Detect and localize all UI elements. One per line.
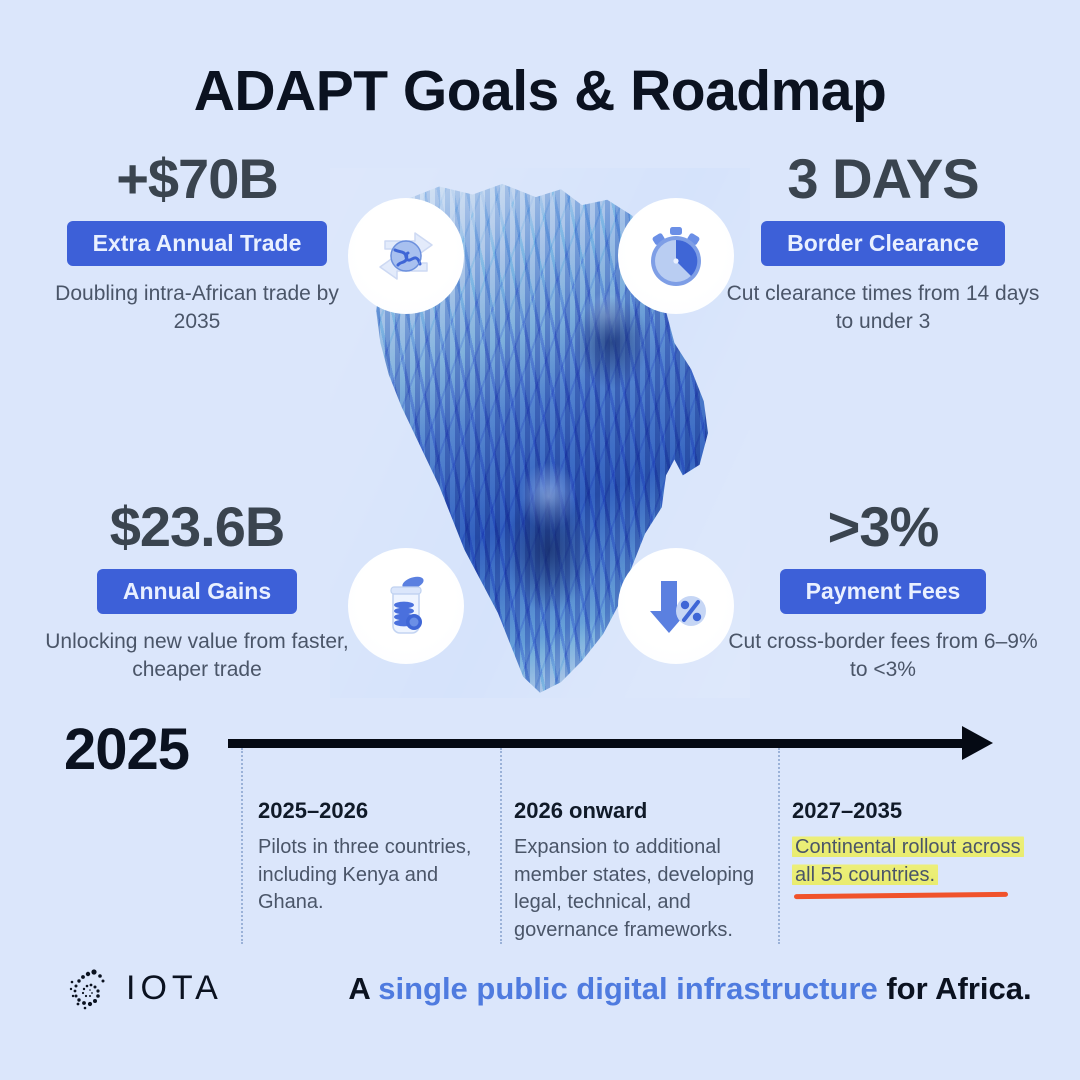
- stat-description: Doubling intra-African trade by 2035: [32, 280, 362, 335]
- page-title: ADAPT Goals & Roadmap: [0, 58, 1080, 124]
- stat-pill-label: Payment Fees: [780, 569, 987, 614]
- stat-pill-label: Annual Gains: [97, 569, 297, 614]
- iota-logo-icon: [64, 965, 110, 1011]
- stat-annual-gains: $23.6B Annual Gains Unlocking new value …: [32, 498, 362, 684]
- milestone-period: 2025–2026: [258, 798, 506, 824]
- timeline-milestone-3: 2027–2035 Continental rollout across all…: [792, 798, 1028, 889]
- milestone-text: Expansion to additional member states, d…: [514, 834, 762, 944]
- stat-payment-fees: >3% Payment Fees Cut cross-border fees f…: [718, 498, 1048, 684]
- stat-description: Cut clearance times from 14 days to unde…: [718, 280, 1048, 335]
- footer: IOTA A single public digital infrastruct…: [0, 963, 1080, 1033]
- timeline-divider: [241, 748, 243, 944]
- timeline-start-year: 2025: [64, 716, 189, 783]
- timeline-milestone-1: 2025–2026 Pilots in three countries, inc…: [258, 798, 506, 917]
- stat-value: +$70B: [32, 150, 362, 207]
- tagline-suffix: for Africa.: [878, 971, 1032, 1006]
- globe-exchange-icon: [348, 198, 464, 314]
- stat-pill-label: Border Clearance: [761, 221, 1005, 266]
- infographic-canvas: ADAPT Goals & Roadmap: [0, 0, 1080, 1080]
- red-underline-annotation: [794, 892, 1008, 899]
- stat-description: Cut cross-border fees from 6–9% to <3%: [718, 628, 1048, 683]
- stat-value: >3%: [718, 498, 1048, 555]
- tagline-prefix: A: [348, 971, 378, 1006]
- footer-tagline: A single public digital infrastructure f…: [340, 971, 1040, 1007]
- milestone-period: 2027–2035: [792, 798, 1028, 824]
- milestone-period: 2026 onward: [514, 798, 762, 824]
- timeline-arrow-icon: [962, 726, 993, 760]
- savings-jar-icon: [348, 548, 464, 664]
- highlight-marker: Continental rollout across all 55 countr…: [792, 835, 1024, 887]
- stat-description: Unlocking new value from faster, cheaper…: [32, 628, 362, 683]
- stat-value: $23.6B: [32, 498, 362, 555]
- brand-wordmark: IOTA: [126, 969, 223, 1008]
- stopwatch-icon: [618, 198, 734, 314]
- milestone-text-highlighted: Continental rollout across all 55 countr…: [792, 834, 1028, 889]
- timeline-divider: [778, 748, 780, 944]
- timeline-axis: [228, 739, 970, 748]
- percent-down-arrow-icon: [618, 548, 734, 664]
- stat-value: 3 DAYS: [718, 150, 1048, 207]
- stat-border-clearance: 3 DAYS Border Clearance Cut clearance ti…: [718, 150, 1048, 336]
- stat-extra-annual-trade: +$70B Extra Annual Trade Doubling intra-…: [32, 150, 362, 336]
- stat-pill-label: Extra Annual Trade: [67, 221, 328, 266]
- milestone-text: Pilots in three countries, including Ken…: [258, 834, 506, 917]
- timeline-milestone-2: 2026 onward Expansion to additional memb…: [514, 798, 762, 944]
- tagline-accent: single public digital infrastructure: [378, 971, 878, 1006]
- brand-lockup: IOTA: [64, 965, 223, 1011]
